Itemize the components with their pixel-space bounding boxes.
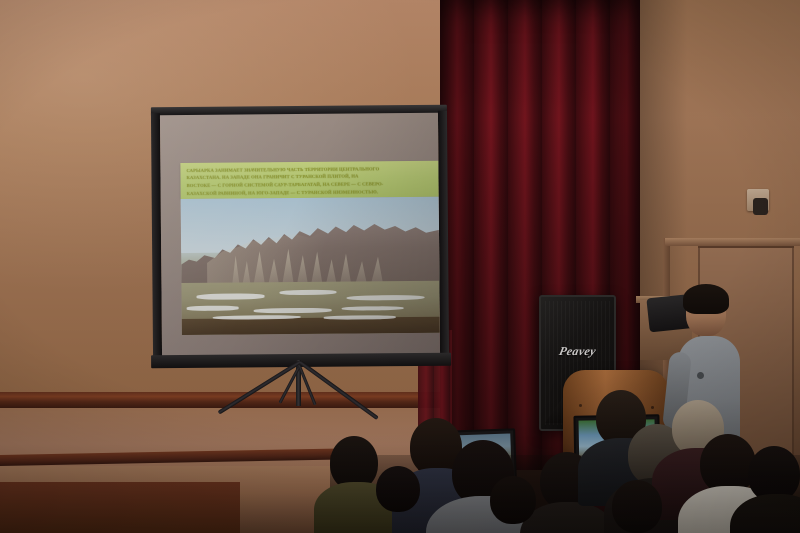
projection-screen: САРЫАРКА ЗАНИМАЕТ ЗНАЧИТЕЛЬНУЮ ЧАСТЬ ТЕР… — [151, 105, 449, 366]
presenter-button — [697, 372, 704, 379]
presenter-hair — [683, 284, 729, 314]
slide-text-banner: САРЫАРКА ЗАНИМАЕТ ЗНАЧИТЕЛЬНУЮ ЧАСТЬ ТЕР… — [180, 161, 438, 199]
podium-stud — [579, 404, 582, 407]
photo-snow-patch — [197, 294, 264, 300]
projected-slide: САРЫАРКА ЗАНИМАЕТ ЗНАЧИТЕЛЬНУЮ ЧАСТЬ ТЕР… — [180, 161, 439, 335]
photo-snow-patch — [342, 306, 404, 311]
photo-foreground — [182, 316, 440, 335]
audience-head — [376, 466, 420, 512]
door-trim — [665, 238, 800, 246]
slide-photograph — [181, 197, 440, 335]
audience-head — [700, 434, 756, 494]
wainscot-block — [0, 482, 240, 533]
lecture-hall-photo: САРЫАРКА ЗАНИМАЕТ ЗНАЧИТЕЛЬНУЮ ЧАСТЬ ТЕР… — [0, 0, 800, 533]
audience-head — [490, 476, 536, 524]
plug-icon — [753, 198, 768, 215]
slide-text-line-4: КАЗАХСКОЙ РАВНИНОЙ, НА ЮГО-ЗАПАДЕ — С ТУ… — [187, 187, 435, 197]
photo-snow-patch — [187, 306, 239, 311]
audience-head — [612, 480, 662, 533]
podium-stud — [651, 406, 654, 409]
peavey-logo: Peavey — [539, 344, 615, 359]
screen-surface: САРЫАРКА ЗАНИМАЕТ ЗНАЧИТЕЛЬНУЮ ЧАСТЬ ТЕР… — [160, 113, 440, 356]
